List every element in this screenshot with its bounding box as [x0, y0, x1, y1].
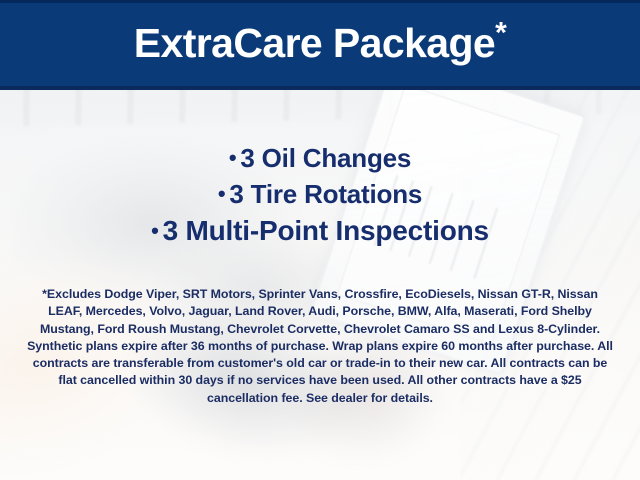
- list-item: •3 Multi-Point Inspections: [0, 212, 640, 250]
- benefit-label: 3 Tire Rotations: [229, 179, 422, 209]
- main-content: •3 Oil Changes •3 Tire Rotations •3 Mult…: [0, 90, 640, 480]
- page-title-text: ExtraCare Package: [134, 20, 495, 66]
- benefits-list: •3 Oil Changes •3 Tire Rotations •3 Mult…: [0, 140, 640, 250]
- disclaimer-text: *Excludes Dodge Viper, SRT Motors, Sprin…: [26, 286, 614, 407]
- benefit-label: 3 Multi-Point Inspections: [163, 215, 489, 246]
- bullet-icon: •: [218, 181, 226, 206]
- page-title: ExtraCare Package*: [134, 23, 506, 64]
- page-title-asterisk: *: [495, 16, 506, 49]
- bullet-icon: •: [229, 145, 237, 170]
- bullet-icon: •: [151, 218, 159, 243]
- list-item: •3 Oil Changes: [0, 140, 640, 176]
- extracare-package-ad: ExtraCare Package* •3 Oil Changes •3 Tir…: [0, 0, 640, 480]
- list-item: •3 Tire Rotations: [0, 176, 640, 212]
- header-band: ExtraCare Package*: [0, 0, 640, 90]
- benefit-label: 3 Oil Changes: [240, 143, 411, 173]
